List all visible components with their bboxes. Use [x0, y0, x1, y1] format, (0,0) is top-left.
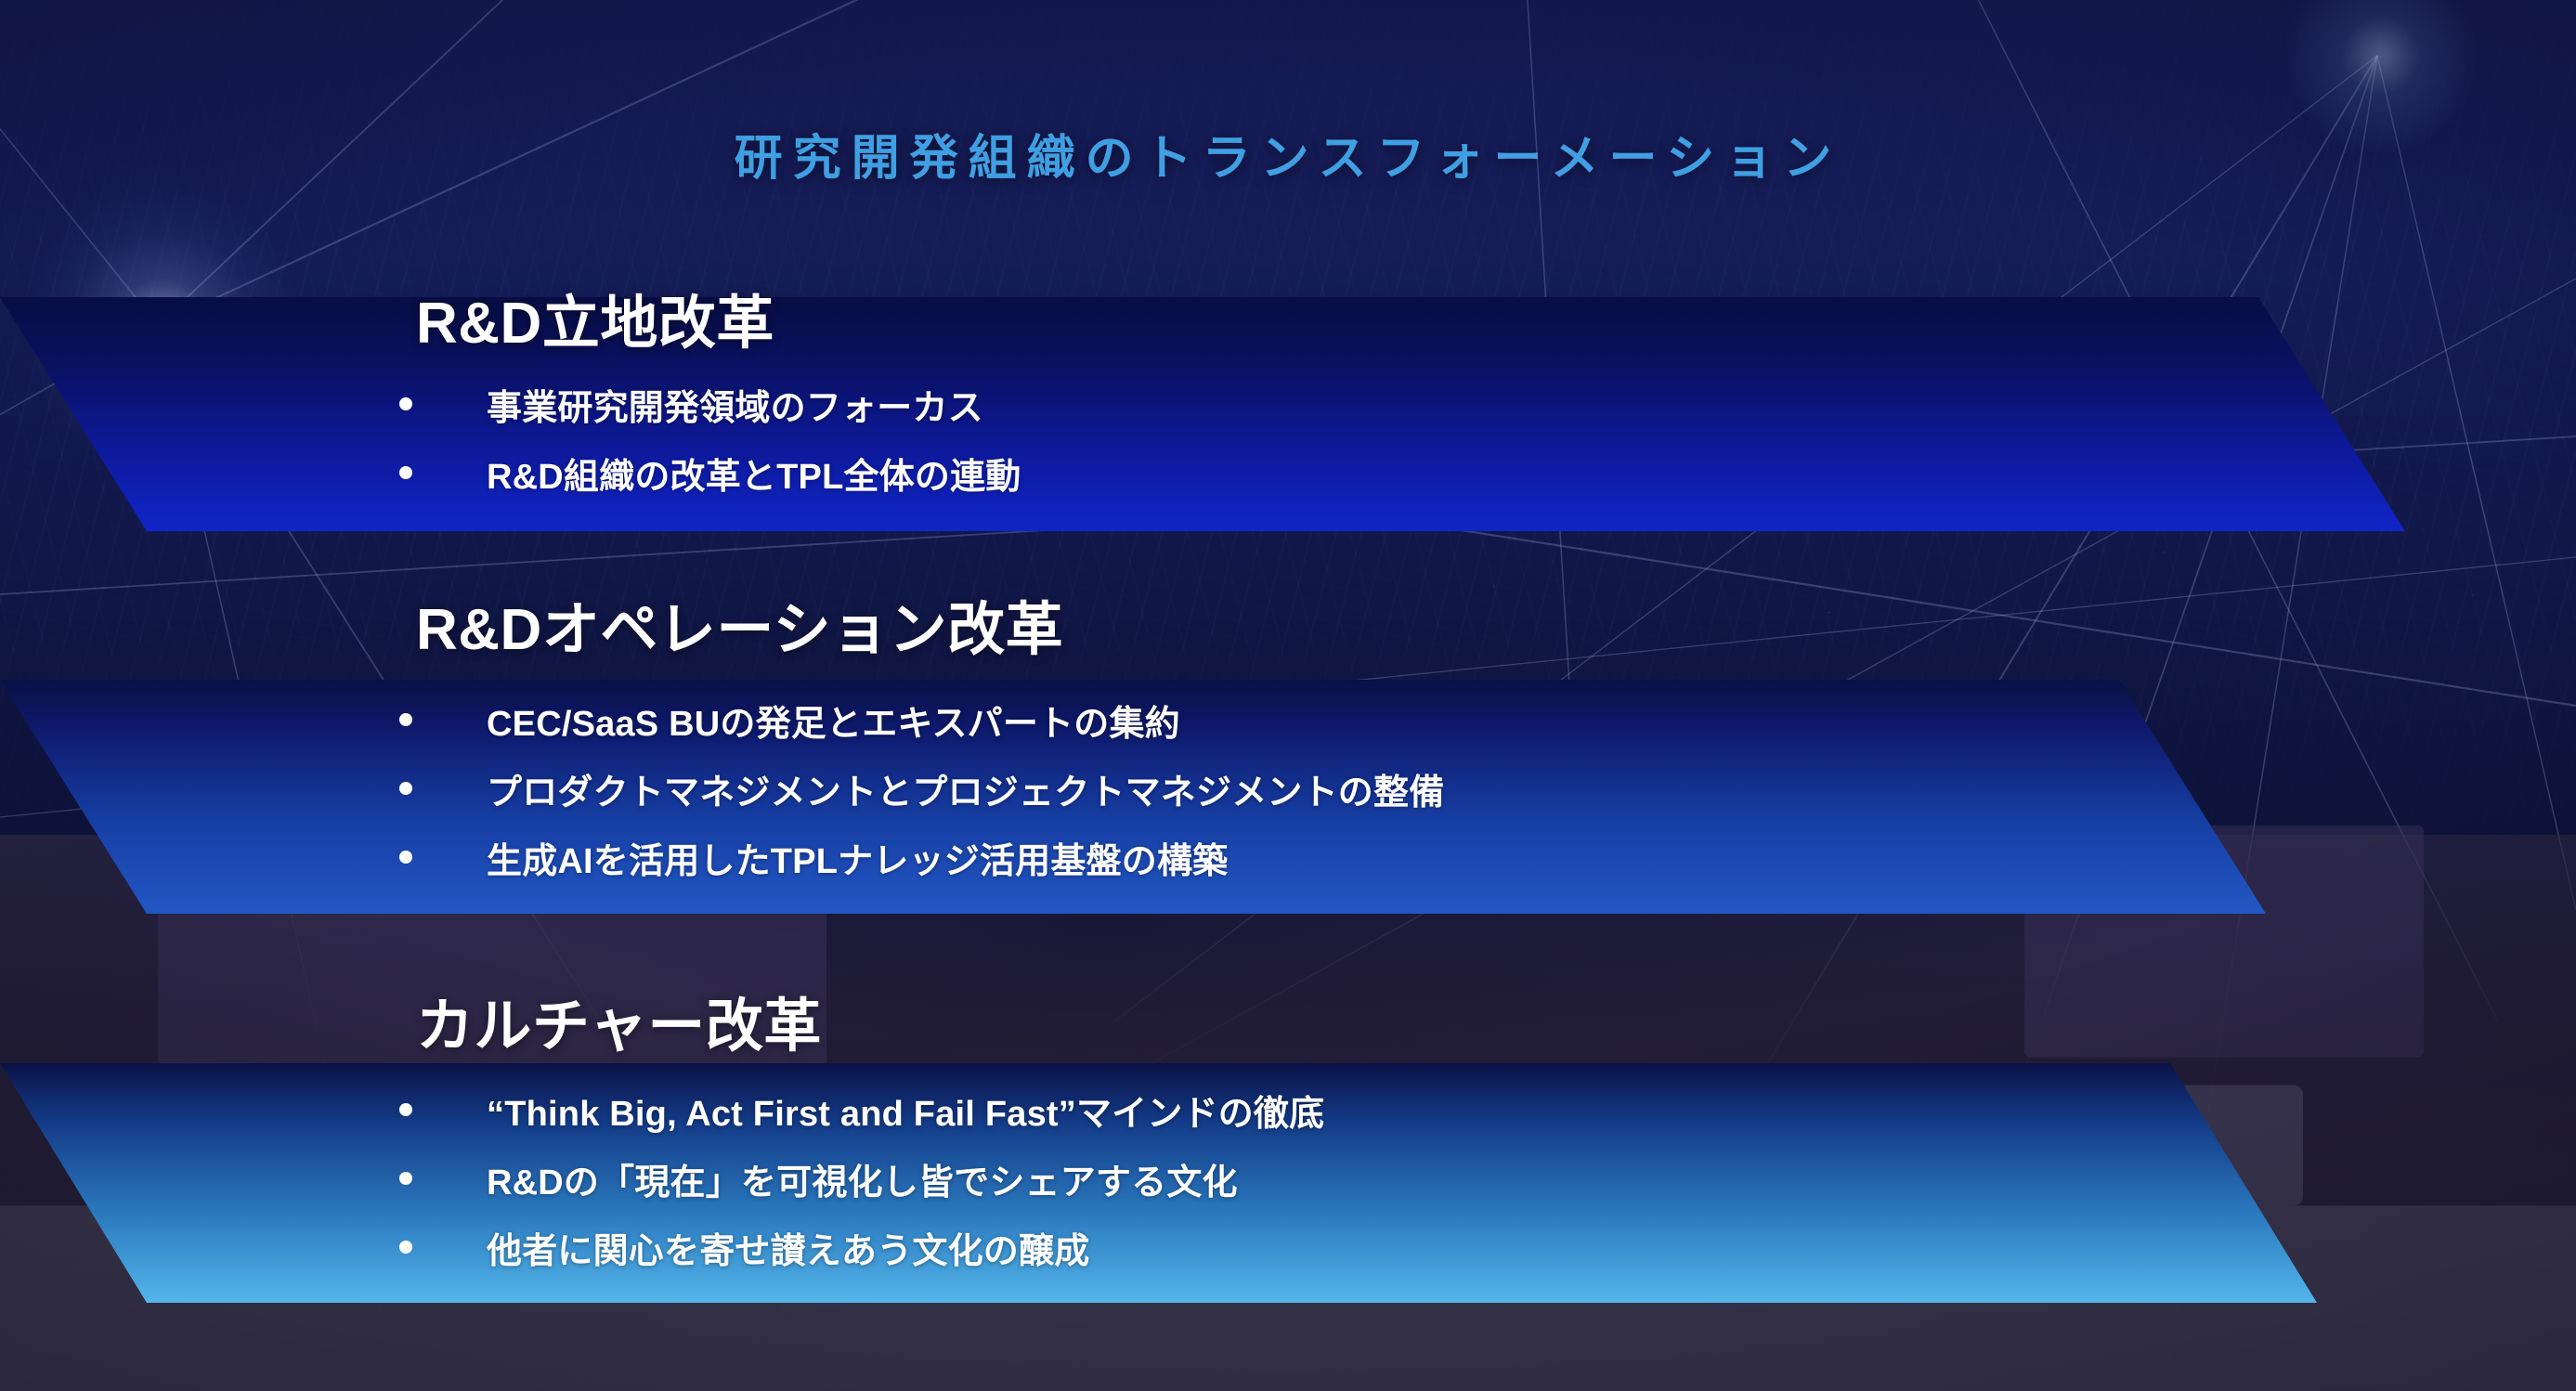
- bullet-list-rd-location: 事業研究開発領域のフォーカス R&D組織の改革とTPL全体の連動: [399, 379, 1021, 516]
- page-title: 研究開発組織のトランスフォーメーション: [0, 119, 2576, 188]
- band-heading-culture: カルチャー改革: [416, 998, 822, 1056]
- bullet-list-culture: “Think Big, Act First and Fail Fast”マインド…: [399, 1085, 1324, 1291]
- list-item: R&Dの「現在」を可視化し皆でシェアする文化: [399, 1153, 1324, 1222]
- band-heading-rd-operation: R&Dオペレーション改革: [416, 602, 1063, 659]
- band-shape-rd-location: [0, 297, 2405, 531]
- list-item: 事業研究開発領域のフォーカス: [399, 379, 1021, 448]
- bullet-text: プロダクトマネジメントとプロジェクトマネジメントの整備: [487, 763, 1444, 814]
- bullet-dot-icon: [399, 1241, 412, 1254]
- list-item: プロダクトマネジメントとプロジェクトマネジメントの整備: [399, 763, 1444, 832]
- bullet-text: 他者に関心を寄せ讃えあう文化の醸成: [487, 1222, 1089, 1273]
- bullet-dot-icon: [399, 397, 412, 410]
- list-item: 生成AIを活用したTPLナレッジ活用基盤の構築: [399, 832, 1444, 901]
- band-heading-rd-location: R&D立地改革: [416, 295, 774, 353]
- bullet-text: “Think Big, Act First and Fail Fast”マインド…: [487, 1085, 1324, 1136]
- bullet-text: R&Dの「現在」を可視化し皆でシェアする文化: [487, 1153, 1238, 1204]
- bullet-text: CEC/SaaS BUの発足とエキスパートの集約: [487, 695, 1180, 746]
- bullet-dot-icon: [399, 713, 412, 726]
- list-item: 他者に関心を寄せ讃えあう文化の醸成: [399, 1222, 1324, 1291]
- list-item: CEC/SaaS BUの発足とエキスパートの集約: [399, 695, 1444, 763]
- bullet-dot-icon: [399, 1172, 412, 1185]
- bullet-dot-icon: [399, 851, 412, 864]
- bullet-dot-icon: [399, 1103, 412, 1116]
- slide-canvas: 研究開発組織のトランスフォーメーション R&D立地改革 事業研究開発領域のフォー…: [0, 0, 2576, 1391]
- bullet-dot-icon: [399, 466, 412, 479]
- bullet-list-rd-operation: CEC/SaaS BUの発足とエキスパートの集約 プロダクトマネジメントとプロジ…: [399, 695, 1444, 901]
- list-item: “Think Big, Act First and Fail Fast”マインド…: [399, 1085, 1324, 1153]
- bullet-text: 事業研究開発領域のフォーカス: [487, 379, 983, 430]
- bullet-text: R&D組織の改革とTPL全体の連動: [487, 448, 1021, 499]
- list-item: R&D組織の改革とTPL全体の連動: [399, 448, 1021, 516]
- bullet-text: 生成AIを活用したTPLナレッジ活用基盤の構築: [487, 832, 1228, 883]
- bullet-dot-icon: [399, 782, 412, 795]
- band-rd-location: [0, 297, 2405, 531]
